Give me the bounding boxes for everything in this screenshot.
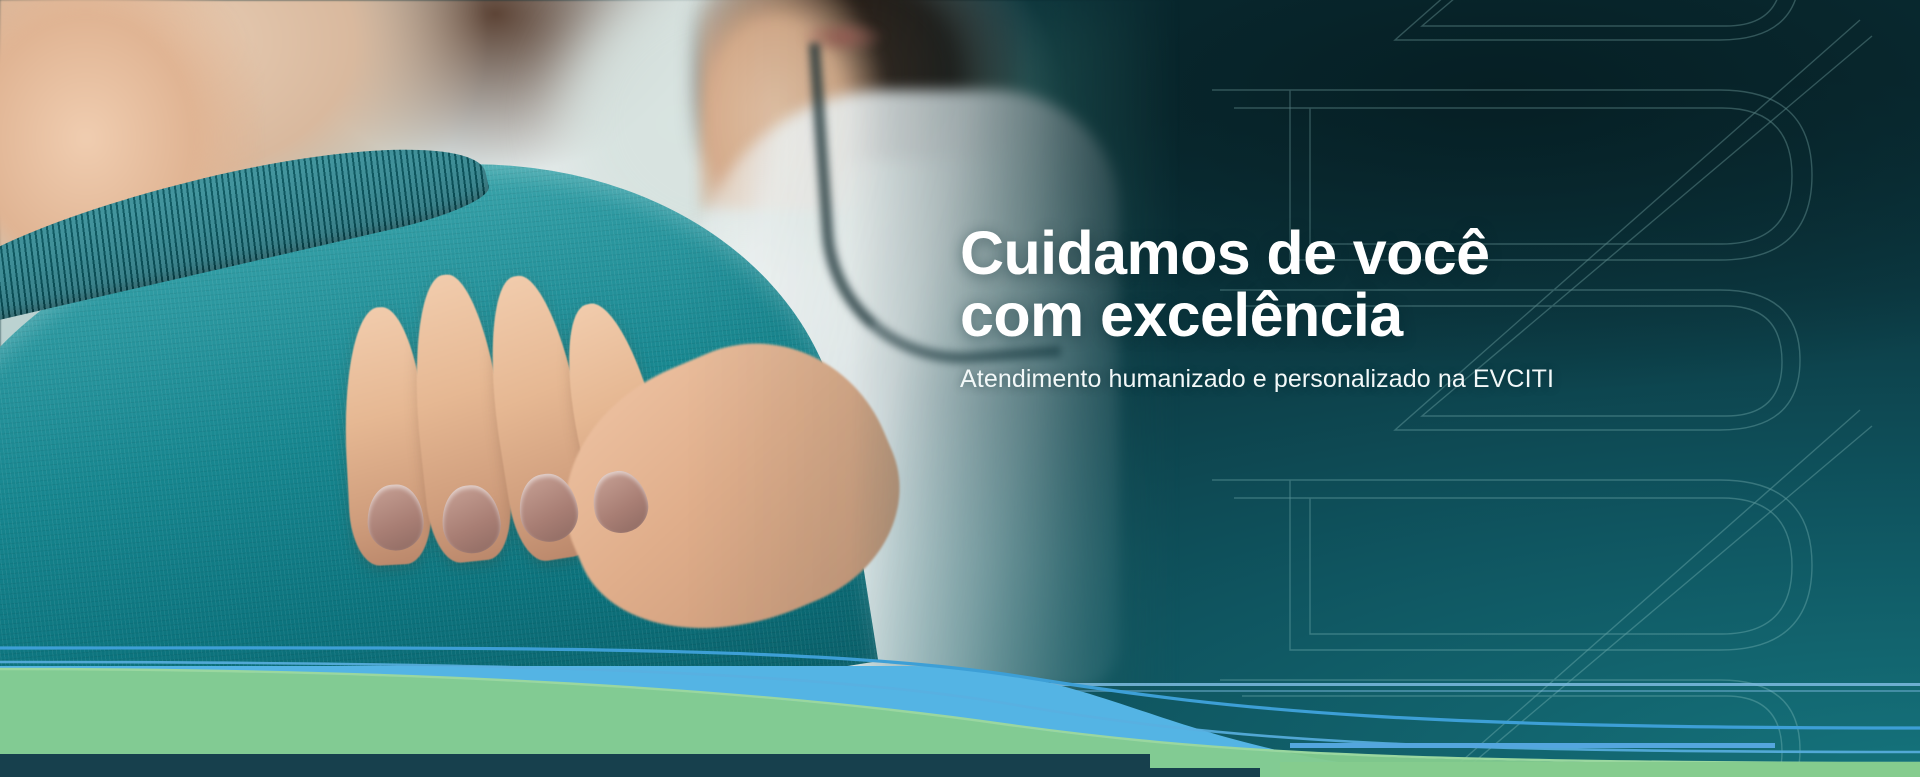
footer-dark-step [300,768,1260,777]
headline-line-2: com excelência [960,284,1780,346]
hero-headline: Cuidamos de você com excelência [960,222,1780,346]
caring-hand [326,220,893,690]
hero-subheadline: Atendimento humanizado e personalizado n… [960,365,1780,394]
bottom-wave-decoration [0,642,1920,777]
headline-line-1: Cuidamos de você [960,219,1489,287]
footer-blue-rule [1290,743,1775,748]
hero-copy: Cuidamos de você com excelência Atendime… [960,222,1780,394]
footer-green-band [1280,762,1920,777]
hero-banner: Cuidamos de você com excelência Atendime… [0,0,1920,777]
